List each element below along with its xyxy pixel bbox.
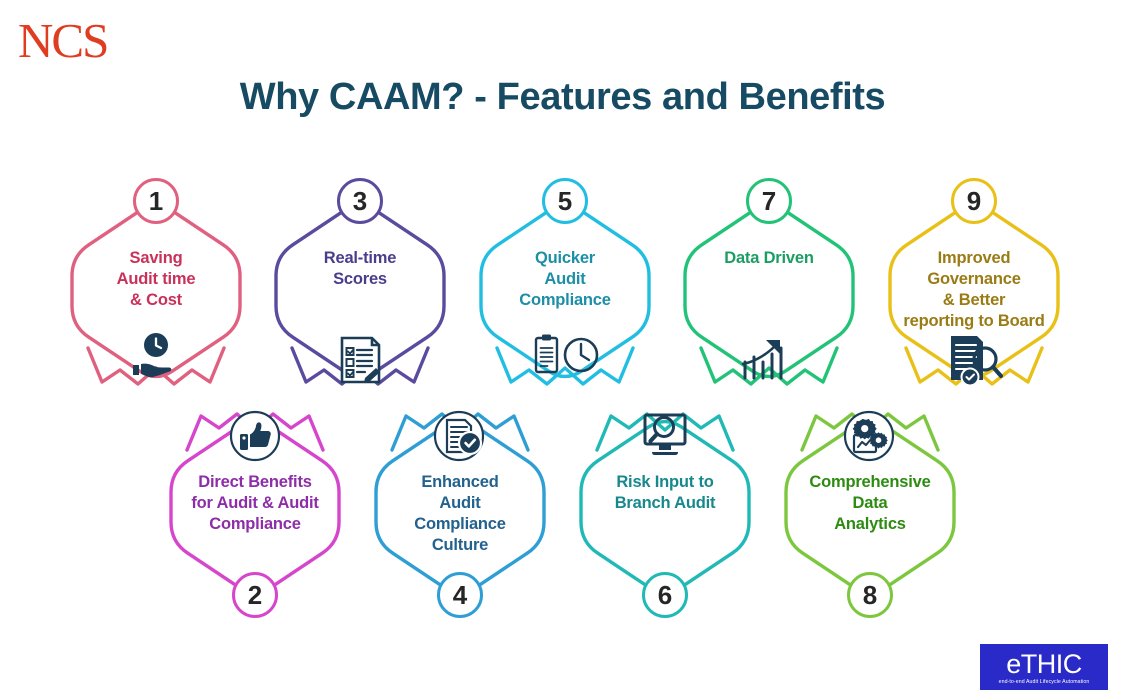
hand-holding-clock-icon [58,332,254,382]
ethic-logo: eTHIC end-to-end Audit Lifecycle Automat… [980,644,1108,690]
hexagon-card-1[interactable]: 1 Saving Audit time & Cost [58,186,254,412]
hexagon-label-7: Data Driven [675,248,863,269]
hexagon-number-badge-5: 5 [542,178,588,224]
hexagon-card-8[interactable]: 8 Comprehensive Data Analytics [772,386,968,612]
hexagon-label-2: Direct Benefits for Audit & Audit Compli… [161,472,349,535]
hexagon-label-8: Comprehensive Data Analytics [776,472,964,535]
hexagon-number-6: 6 [658,580,672,611]
hexagon-number-1: 1 [149,186,163,217]
clipboard-clock-icon [467,332,663,378]
hexagon-number-3: 3 [353,186,367,217]
ncs-logo-text: NCS [18,14,138,68]
hexagon-number-badge-1: 1 [133,178,179,224]
hexagon-label-9: Improved Governance & Better reporting t… [880,248,1068,332]
hexagon-label-5: Quicker Audit Compliance [471,248,659,311]
hexagon-number-4: 4 [453,580,467,611]
hexagon-card-4[interactable]: 4 Enhanced Audit Compliance Culture [362,386,558,612]
hexagon-board: 1 Saving Audit time & Cost 2 Direct Bene… [0,150,1125,610]
hexagon-number-7: 7 [762,186,776,217]
ethic-logo-text: eTHIC [1006,650,1082,678]
hexagon-card-6[interactable]: 6 Risk Input to Branch Audit [567,386,763,612]
hexagon-number-8: 8 [863,580,877,611]
hexagon-card-2[interactable]: 2 Direct Benefits for Audit & Audit Comp… [157,386,353,612]
hexagon-number-badge-3: 3 [337,178,383,224]
document-check-icon [362,410,558,462]
hexagon-card-9[interactable]: 9 Improved Governance & Better reporting… [876,186,1072,412]
ethic-logo-thic: THIC [1021,649,1082,679]
monitor-search-icon [567,410,763,460]
growth-chart-icon [671,332,867,386]
hexagon-number-badge-6: 6 [642,572,688,618]
hexagon-number-badge-8: 8 [847,572,893,618]
checklist-clipboard-icon [262,332,458,388]
hexagon-card-7[interactable]: 7 Data Driven [671,186,867,412]
hexagon-label-1: Saving Audit time & Cost [62,248,250,311]
gears-analytics-icon [772,410,968,462]
hexagon-number-badge-7: 7 [746,178,792,224]
hexagon-number-badge-9: 9 [951,178,997,224]
hexagon-number-9: 9 [967,186,981,217]
ncs-logo: NCS [18,14,138,70]
hexagon-number-5: 5 [558,186,572,217]
page-title: Why CAAM? - Features and Benefits [0,76,1125,119]
hexagon-label-3: Real-time Scores [266,248,454,290]
thumbs-up-icon [157,410,353,462]
slide-canvas: NCS Why CAAM? - Features and Benefits 1 … [0,0,1125,700]
ethic-tagline: end-to-end Audit Lifecycle Automation [999,679,1090,685]
hexagon-number-badge-4: 4 [437,572,483,618]
hexagon-label-6: Risk Input to Branch Audit [571,472,759,514]
ethic-logo-e: e [1006,649,1021,679]
hexagon-card-5[interactable]: 5 Quicker Audit Compliance [467,186,663,412]
hexagon-number-badge-2: 2 [232,572,278,618]
hexagon-card-3[interactable]: 3 Real-time Scores [262,186,458,412]
hexagon-label-4: Enhanced Audit Compliance Culture [366,472,554,556]
hexagon-number-2: 2 [248,580,262,611]
document-magnifier-icon [876,332,1072,388]
